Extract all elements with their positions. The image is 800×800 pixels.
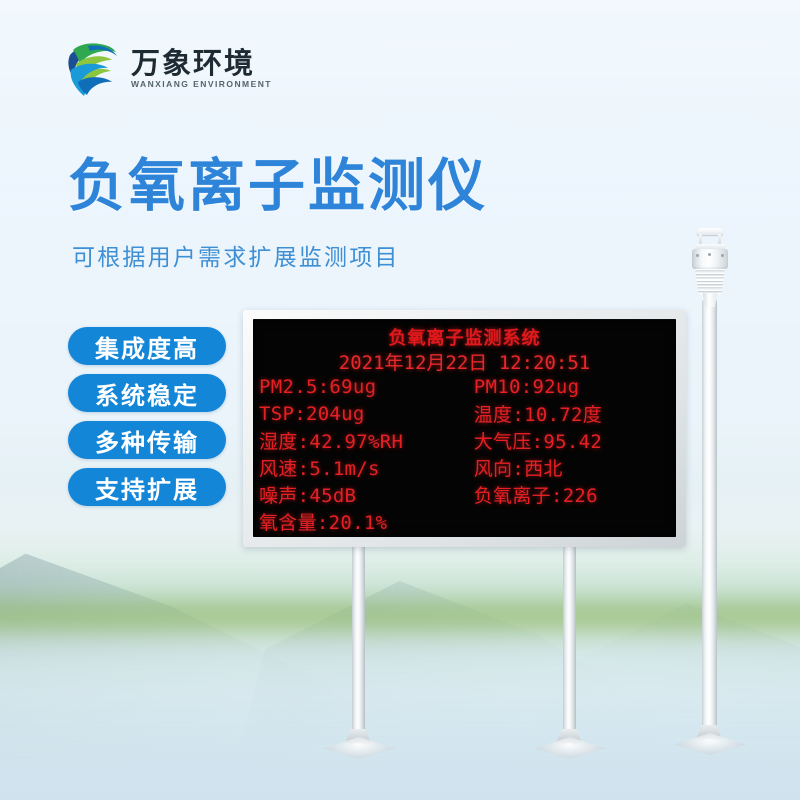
brand-name-cn: 万象环境	[131, 48, 272, 78]
sensor-neck	[701, 293, 719, 307]
feature-badge-4: 支持扩展	[68, 468, 226, 506]
led-datetime: 2021年12月22日 12:20:51	[253, 348, 676, 375]
feature-badge-2: 系统稳定	[68, 374, 226, 412]
sensor-bolt-2	[708, 253, 711, 256]
led-reading-row: 氧含量:20.1%	[259, 508, 672, 535]
led-reading-row: PM2.5:69ug PM10:92ug	[259, 373, 672, 400]
feature-badge-3: 多种传输	[68, 421, 226, 459]
brand-text: 万象环境 WANXIANG ENVIRONMENT	[131, 48, 272, 89]
swirling-globe-logo-icon	[64, 38, 122, 98]
led-display-board: 负氧离子监测系统 2021年12月22日 12:20:51 PM2.5:69ug…	[243, 310, 686, 547]
product-promo-image: 万象环境 WANXIANG ENVIRONMENT 负氧离子监测仪 可根据用户需…	[0, 0, 800, 800]
support-post-right	[563, 545, 576, 745]
support-post-left	[352, 545, 365, 745]
led-reading-noise: 噪声:45dB	[259, 481, 474, 508]
led-reading-temperature: 温度:10.72度	[474, 400, 672, 427]
ultrasonic-weather-sensor-icon	[688, 228, 732, 306]
led-system-title: 负氧离子监测系统	[253, 324, 676, 350]
led-readings: PM2.5:69ug PM10:92ug TSP:204ug 温度:10.72度…	[253, 373, 676, 535]
sensor-body	[692, 249, 728, 269]
led-reading-wind-speed: 风速:5.1m/s	[259, 454, 474, 481]
led-reading-oxygen-content: 氧含量:20.1%	[259, 508, 474, 535]
feature-badge-1: 集成度高	[68, 327, 226, 365]
led-reading-row: 湿度:42.97%RH 大气压:95.42	[259, 427, 672, 454]
feature-badge-list: 集成度高 系统稳定 多种传输 支持扩展	[68, 327, 226, 506]
led-reading-row: TSP:204ug 温度:10.72度	[259, 400, 672, 427]
led-reading-tsp: TSP:204ug	[259, 403, 474, 425]
sensor-mast	[702, 300, 717, 740]
led-reading-wind-direction: 风向:西北	[474, 454, 672, 481]
brand-logo: 万象环境 WANXIANG ENVIRONMENT	[64, 38, 272, 98]
led-reading-humidity: 湿度:42.97%RH	[259, 427, 474, 454]
sensor-bolt-3	[721, 254, 724, 257]
led-reading-negative-oxygen-ion: 负氧离子:226	[474, 481, 672, 508]
sensor-radiation-shield	[694, 269, 726, 294]
led-reading-pm25: PM2.5:69ug	[259, 376, 474, 398]
brand-name-en: WANXIANG ENVIRONMENT	[131, 80, 272, 89]
sensor-bolt-1	[696, 254, 699, 257]
led-reading-row: 噪声:45dB 负氧离子:226	[259, 481, 672, 508]
led-reading-pressure: 大气压:95.42	[474, 427, 672, 454]
background-water	[0, 636, 800, 800]
page-subtitle: 可根据用户需求扩展监测项目	[72, 238, 400, 272]
led-screen: 负氧离子监测系统 2021年12月22日 12:20:51 PM2.5:69ug…	[253, 319, 676, 537]
page-title: 负氧离子监测仪	[68, 156, 488, 218]
led-reading-pm10: PM10:92ug	[474, 376, 672, 398]
led-reading-row: 风速:5.1m/s 风向:西北	[259, 454, 672, 481]
